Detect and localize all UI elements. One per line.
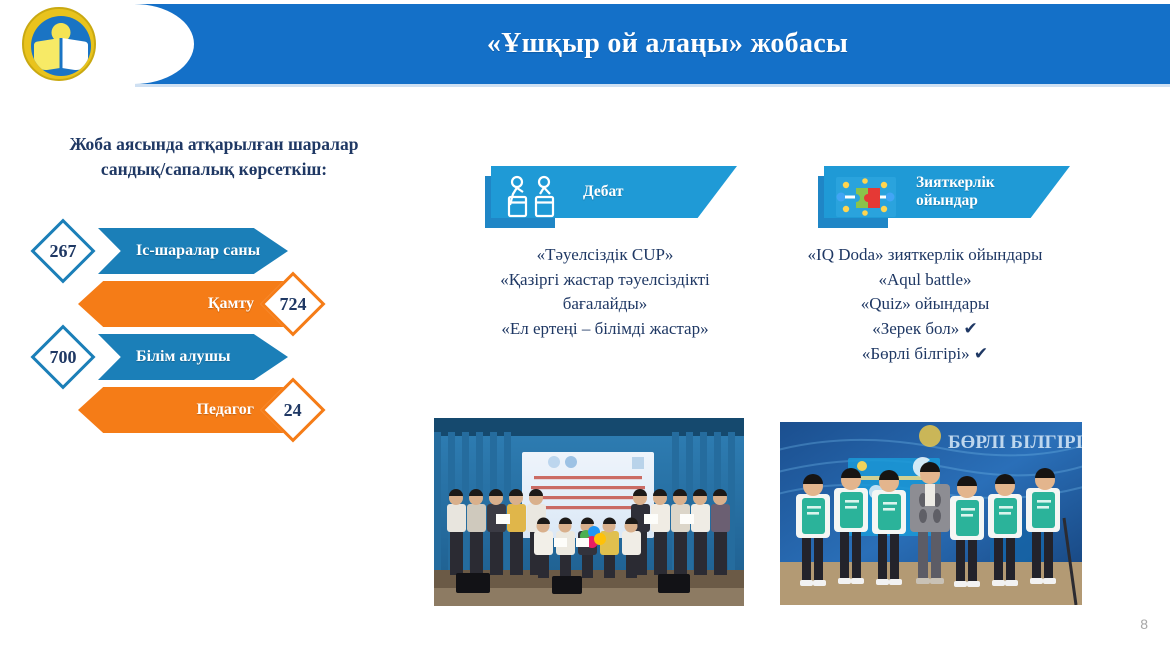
chart-row-0: Іс-шаралар саны 267 (28, 228, 358, 274)
chart-row-2: Білім алушы 700 (28, 334, 358, 380)
list-item: «Quiz» ойындары (760, 292, 1090, 317)
metrics-chevron-chart: Іс-шаралар саны 267 Қамту 724 Білім алуш… (28, 228, 358, 428)
banner-label-debate: Дебат (583, 183, 623, 201)
list-item: «Тәуелсіздік CUP» (440, 243, 770, 268)
chart-bar-0: Іс-шаралар саны (98, 228, 288, 274)
banner-debate: Дебат (485, 166, 745, 222)
chart-category-1: Қамту (208, 295, 254, 313)
chart-row-3: Педагог 24 (28, 387, 358, 433)
chart-value-3: 24 (284, 400, 302, 421)
page-title: «Ұшқыр ой алаңы» жобасы (135, 4, 1170, 84)
chart-row-1: Қамту 724 (28, 281, 358, 327)
header-underline (135, 84, 1170, 87)
puzzle-brain-icon (834, 175, 898, 219)
chart-value-badge-0: 267 (30, 218, 95, 283)
chart-value-2: 700 (50, 347, 77, 368)
emblem-ring (24, 9, 94, 79)
list-item: «Қазіргі жастар тәуелсіздікті (440, 268, 770, 293)
intellectual-games-team-photo: БӨРЛІ БІЛГІРІ" (780, 422, 1082, 605)
banner-intellectual-games: Зияткерлік ойындар (818, 166, 1078, 222)
debate-ceremony-photo (434, 418, 744, 606)
debate-podium-icon (501, 175, 565, 219)
chart-category-0: Іс-шаралар саны (136, 242, 260, 260)
heading-line-1: Жоба аясында атқарылған шаралар (28, 132, 400, 157)
chart-value-1: 724 (280, 294, 307, 315)
debate-item-list: «Тәуелсіздік CUP» «Қазіргі жастар тәуелс… (440, 243, 770, 342)
left-panel-heading: Жоба аясында атқарылған шаралар сандық/с… (28, 132, 400, 183)
page-number: 8 (1140, 616, 1148, 632)
list-item: бағалайды» (440, 292, 770, 317)
banner-label-line-1: Зияткерлік (916, 174, 995, 192)
heading-line-2: сандық/сапалық көрсеткіш: (28, 157, 400, 182)
list-item: «Aqul battle» (760, 268, 1090, 293)
chart-value-badge-2: 700 (30, 324, 95, 389)
chart-category-2: Білім алушы (136, 348, 230, 366)
chart-bar-3: Педагог (78, 387, 288, 433)
chart-bar-2: Білім алушы (98, 334, 288, 380)
slide-root: «Ұшқыр ой алаңы» жобасы Жоба аясында атқ… (0, 0, 1170, 670)
school-emblem-icon (22, 7, 96, 81)
chart-category-3: Педагог (196, 401, 254, 419)
list-item: «Бөрлі білгірі» ✔ (760, 342, 1090, 367)
chart-bar-1: Қамту (78, 281, 288, 327)
chart-value-0: 267 (50, 241, 77, 262)
list-item: «Ел ертеңі – білімді жастар» (440, 317, 770, 342)
svg-text:БӨРЛІ БІЛГІРІ": БӨРЛІ БІЛГІРІ" (948, 432, 1082, 453)
banner-label-line-2: ойындар (916, 192, 995, 210)
list-item: «IQ Doda» зияткерлік ойындары (760, 243, 1090, 268)
intellectual-games-item-list: «IQ Doda» зияткерлік ойындары «Aqul batt… (760, 243, 1090, 366)
list-item: «Зерек бол» ✔ (760, 317, 1090, 342)
